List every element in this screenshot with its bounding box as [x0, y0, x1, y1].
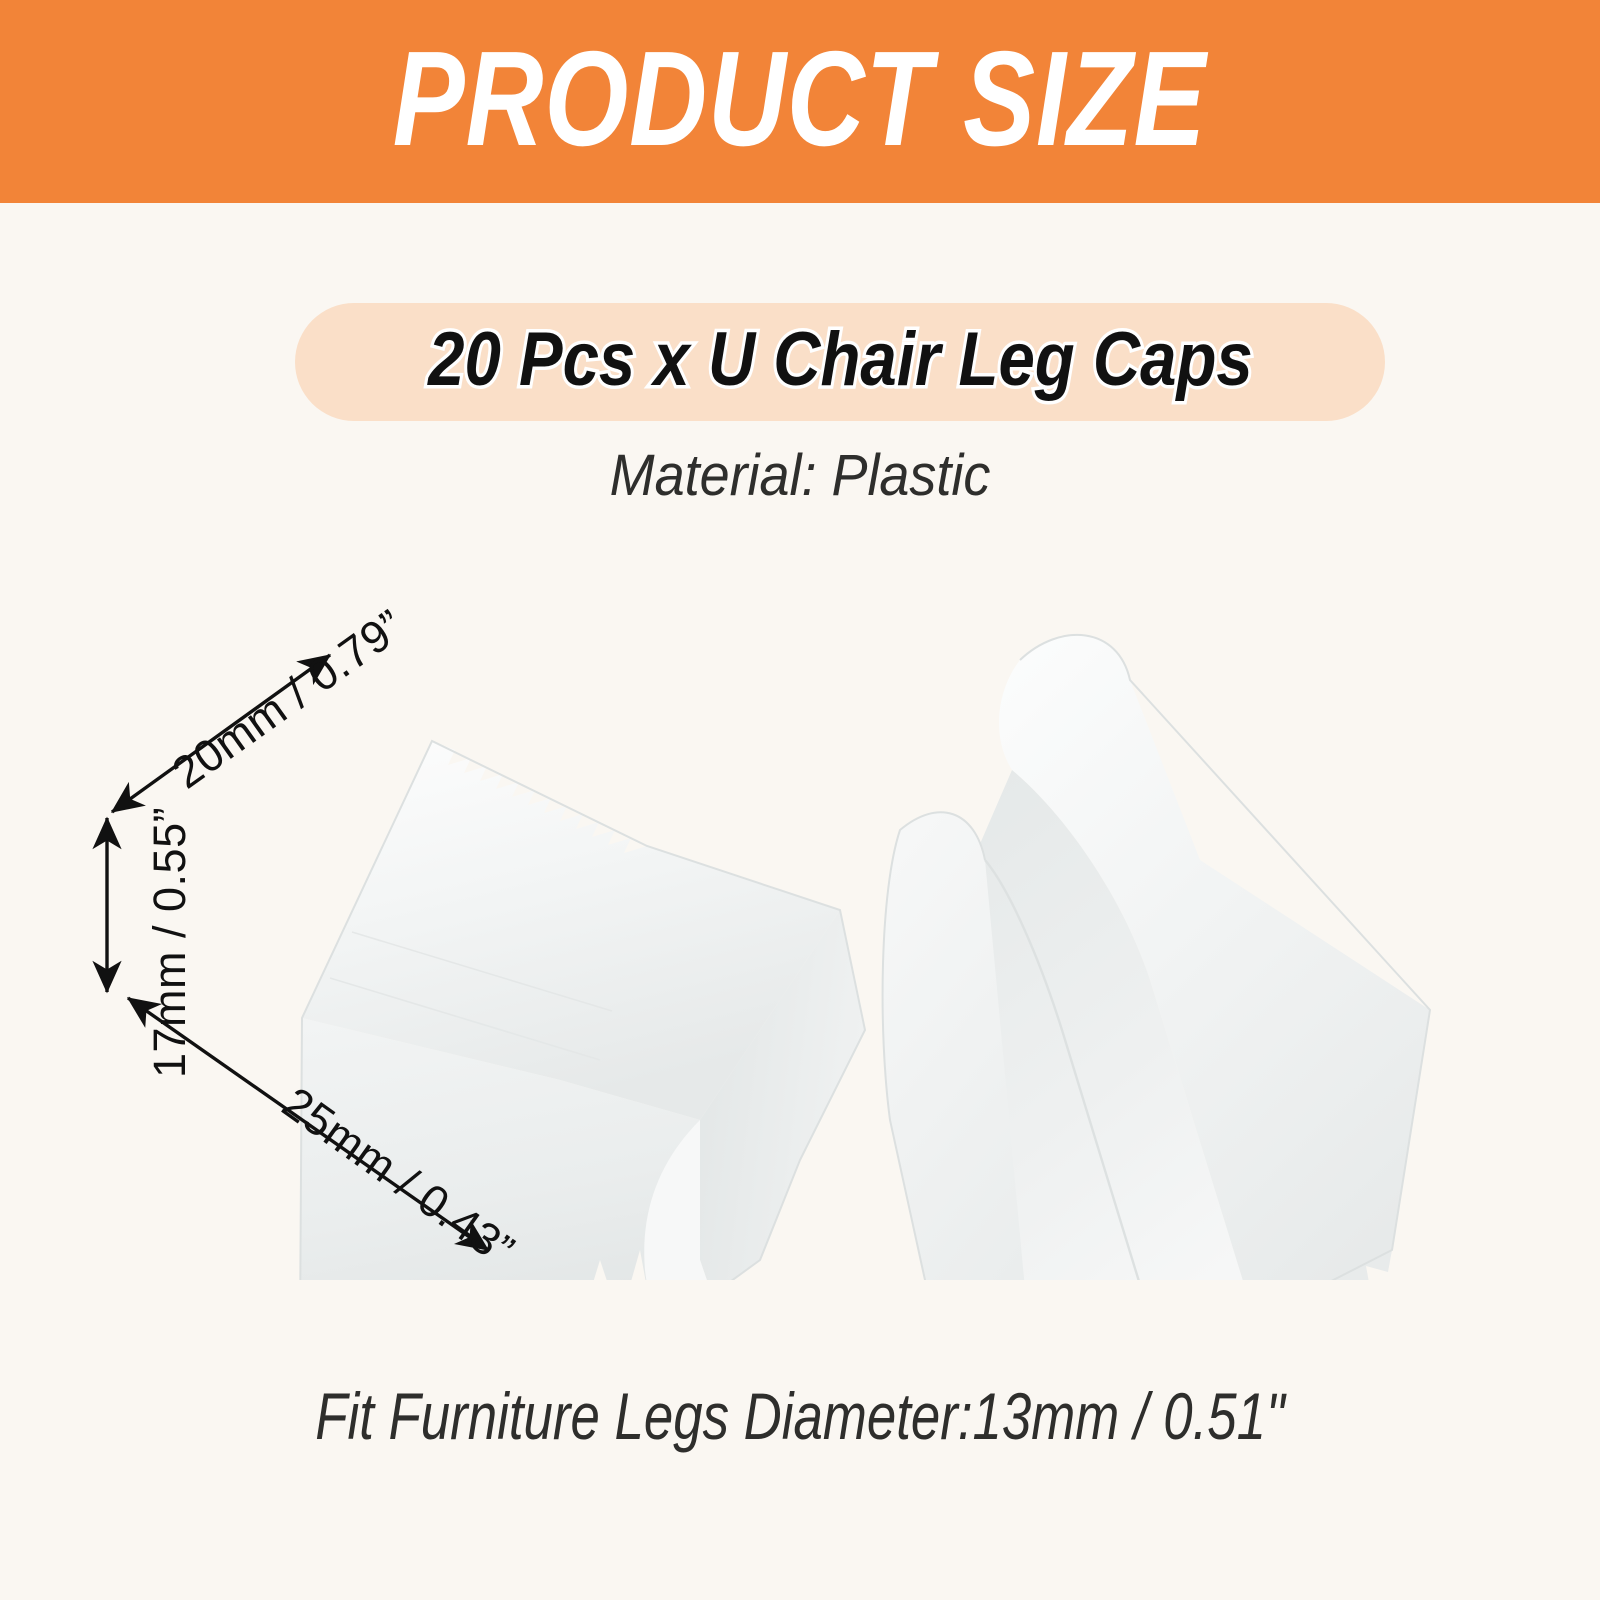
product-illustration: [0, 560, 1600, 1280]
header-banner: PRODUCT SIZE: [0, 0, 1600, 203]
dimension-label-height: 17mm / 0.55”: [144, 807, 196, 1078]
fit-diameter-label: Fit Furniture Legs Diameter:13mm / 0.51": [160, 1378, 1440, 1454]
product-image-right: [883, 635, 1430, 1280]
product-name-label: 20 Pcs x U Chair Leg Caps: [428, 322, 1253, 398]
page-title: PRODUCT SIZE: [393, 31, 1207, 166]
product-name-pill: 20 Pcs x U Chair Leg Caps: [295, 303, 1385, 421]
material-label: Material: Plastic: [56, 442, 1544, 509]
